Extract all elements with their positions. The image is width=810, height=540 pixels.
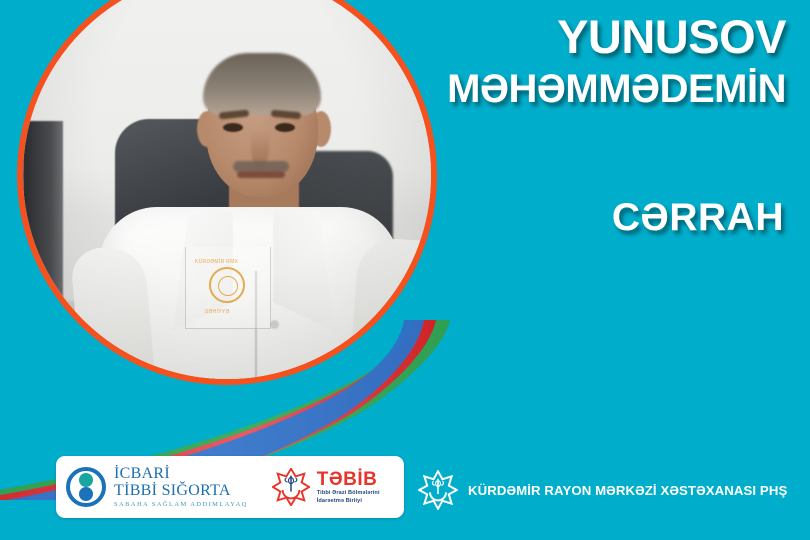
- hospital-star-icon: [418, 470, 458, 510]
- doctor-surname: YUNUSOV: [447, 12, 786, 62]
- doctor-name-block: YUNUSOV MƏHƏMMƏDEMİN: [447, 12, 786, 110]
- insurance-mark-icon: [66, 467, 106, 507]
- doctor-role: CƏRRAH: [612, 196, 784, 240]
- tebib-logo-text: TƏBİB Tibbi Ərazi Bölmələrini İdarəetmə …: [317, 470, 380, 504]
- doctor-firstname: MƏHƏMMƏDEMİN: [447, 68, 786, 110]
- coat-emblem-top-text: KÜRDƏMİR RMX: [195, 259, 238, 265]
- portrait-circle: KÜRDƏMİR RMX SƏHİYYƏ: [17, 0, 437, 385]
- insurance-tagline: SABAHA SAĞLAM ADDIMLAYAQ: [114, 502, 248, 509]
- sponsor-logo-panel: İCBARİ TİBBİ SIĞORTA SABAHA SAĞLAM ADDIM…: [56, 456, 404, 518]
- hospital-identity: KÜRDƏMİR RAYON MƏRKƏZİ XƏSTƏXANASI PHŞ: [418, 470, 787, 510]
- mouth: [237, 171, 285, 178]
- insurance-mark-lower-shape: [79, 487, 93, 501]
- tebib-wordmark: TƏBİB: [317, 470, 380, 489]
- hair: [203, 53, 321, 115]
- tebib-subtitle-line2: İdarəetmə Birliyi: [317, 499, 380, 505]
- insurance-mark-upper-shape: [79, 473, 93, 487]
- hospital-name: KÜRDƏMİR RAYON MƏRKƏZİ XƏSTƏXANASI PHŞ: [468, 483, 787, 498]
- doctor-profile-card: KÜRDƏMİR RMX SƏHİYYƏ: [0, 0, 810, 540]
- lab-coat-button-upper: [271, 321, 278, 328]
- insurance-logo-text: İCBARİ TİBBİ SIĞORTA SABAHA SAĞLAM ADDIM…: [114, 466, 248, 509]
- eye-left: [223, 123, 243, 132]
- coat-emblem-icon: [209, 267, 245, 303]
- eye-right: [275, 123, 295, 132]
- insurance-logo: İCBARİ TİBBİ SIĞORTA SABAHA SAĞLAM ADDIM…: [56, 466, 248, 509]
- insurance-line2: TİBBİ SIĞORTA: [114, 483, 248, 499]
- office-cabinet: [23, 121, 63, 301]
- tebib-star-icon: [272, 468, 310, 506]
- tebib-subtitle-line1: Tibbi Ərazi Bölmələrini: [317, 491, 380, 497]
- insurance-line1: İCBARİ: [114, 466, 248, 482]
- coat-emblem-bottom-text: SƏHİYYƏ: [205, 309, 230, 315]
- lab-coat-button-lower: [269, 381, 276, 385]
- tebib-logo: TƏBİB Tibbi Ərazi Bölmələrini İdarəetmə …: [272, 468, 380, 506]
- doctor-photo: KÜRDƏMİR RMX SƏHİYYƏ: [23, 0, 431, 379]
